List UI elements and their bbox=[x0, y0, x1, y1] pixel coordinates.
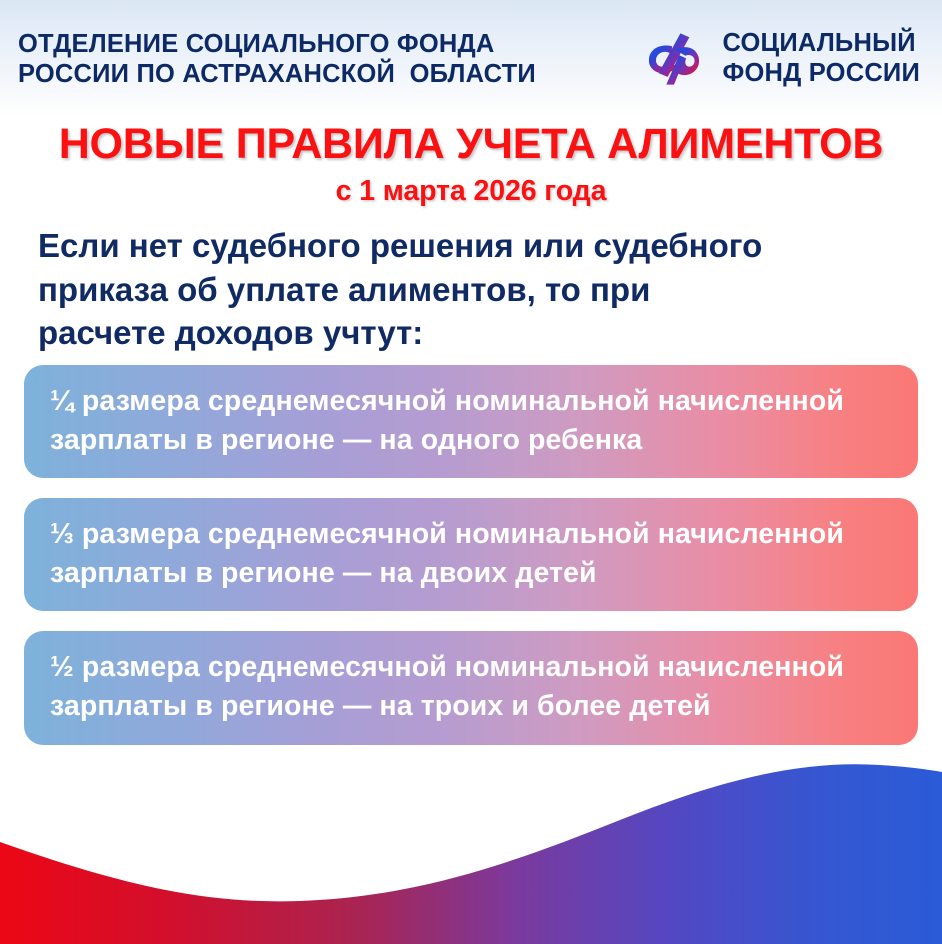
sfr-logo-icon bbox=[641, 27, 707, 91]
organization-name-line1: ОТДЕЛЕНИЕ СОЦИАЛЬНОГО ФОНДА bbox=[18, 29, 536, 59]
rule-card-text: ¼ размера среднемесячной номинальной нач… bbox=[50, 382, 892, 459]
rules-card-list: ¼ размера среднемесячной номинальной нач… bbox=[24, 365, 918, 765]
poster-root: ОТДЕЛЕНИЕ СОЦИАЛЬНОГО ФОНДА РОССИИ ПО АС… bbox=[0, 0, 942, 944]
rule-card: ¼ размера среднемесячной номинальной нач… bbox=[24, 365, 918, 478]
organization-name-line2: РОССИИ ПО АСТРАХАНСКОЙ ОБЛАСТИ bbox=[18, 59, 536, 89]
organization-name: ОТДЕЛЕНИЕ СОЦИАЛЬНОГО ФОНДА РОССИИ ПО АС… bbox=[18, 29, 536, 89]
rule-card: ⅓ размера среднемесячной номинальной нач… bbox=[24, 498, 918, 611]
header-bar: ОТДЕЛЕНИЕ СОЦИАЛЬНОГО ФОНДА РОССИИ ПО АС… bbox=[0, 0, 942, 118]
rule-card: ½ размера среднемесячной номинальной нач… bbox=[24, 631, 918, 744]
rule-card-text: ⅓ размера среднемесячной номинальной нач… bbox=[50, 515, 892, 592]
page-subtitle: с 1 марта 2026 года bbox=[0, 176, 942, 207]
rule-card-text: ½ размера среднемесячной номинальной нач… bbox=[50, 648, 892, 725]
brand-text: СОЦИАЛЬНЫЙ ФОНД РОССИИ bbox=[723, 29, 920, 88]
intro-paragraph: Если нет судебного решения или судебного… bbox=[38, 224, 918, 355]
decorative-wave bbox=[0, 764, 942, 944]
brand-name-line1: СОЦИАЛЬНЫЙ bbox=[723, 29, 920, 59]
brand-block: СОЦИАЛЬНЫЙ ФОНД РОССИИ bbox=[641, 27, 926, 91]
brand-name-line2: ФОНД РОССИИ bbox=[723, 59, 920, 89]
title-block: НОВЫЕ ПРАВИЛА УЧЕТА АЛИМЕНТОВ с 1 марта … bbox=[0, 122, 942, 207]
page-title: НОВЫЕ ПРАВИЛА УЧЕТА АЛИМЕНТОВ bbox=[0, 122, 942, 167]
